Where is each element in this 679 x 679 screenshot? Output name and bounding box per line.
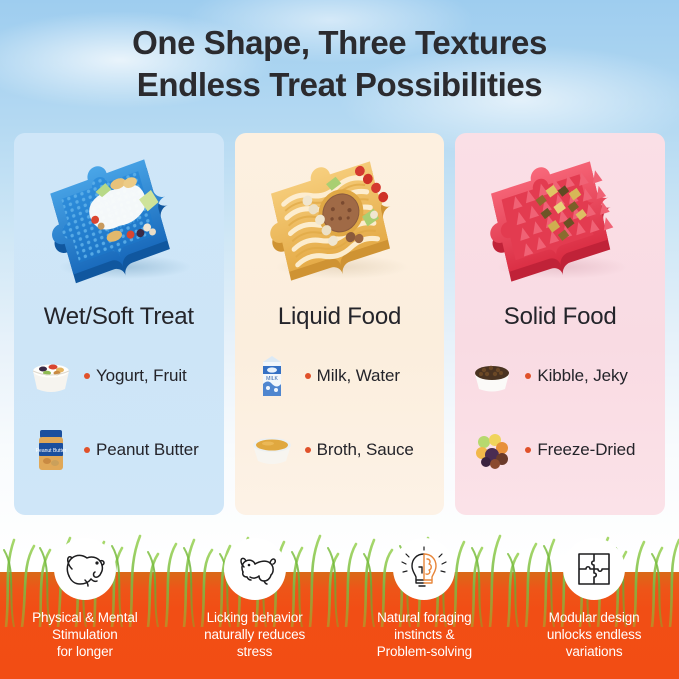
benefit-line: Natural foraging [377,609,472,626]
list-item-label: Milk, Water [317,366,400,386]
benefit-line: Physical & Mental [32,609,138,626]
bullet-dot [84,447,90,453]
panel-title-wet-soft-treat: Wet/Soft Treat [44,303,194,331]
bullet-dot [525,373,531,379]
lightbulb-brain-icon [393,538,455,600]
bullet-dot [305,447,311,453]
benefit-label: Natural foraging instincts & Problem-sol… [373,609,476,660]
list-item-label: Kibble, Jeky [537,366,627,386]
benefit-physical-mental-stimulation[interactable]: Physical & Mental Stimulation for longer [0,530,170,679]
panel-solid-food[interactable]: Solid Food Kibble, [455,133,665,515]
mat-stage-yellow [235,139,445,289]
svg-text:MILK: MILK [266,376,278,382]
headline-line-1: One Shape, Three Textures [132,24,547,61]
dog-head-profile-icon [54,538,116,600]
benefit-line: instincts & [377,626,472,643]
panel-wet-soft-treat[interactable]: PAWSOME STAY PAWSIT [14,133,224,515]
list-item-label: Yogurt, Fruit [96,366,187,386]
headline-line-2: Endless Treat Possibilities [0,64,679,106]
benefit-modular-design[interactable]: Modular design unlocks endless variation… [509,530,679,679]
benefit-label: Licking behavior naturally reduces stres… [200,609,309,660]
milk-carton-icon: MILK [245,353,299,399]
yogurt-bowl-icon [24,353,78,399]
bullet-list-solid-food: Kibble, Jeky Freeze-Dried [455,353,665,473]
list-item: Yogurt, Fruit [24,353,214,399]
puzzle-pieces-icon [563,538,625,600]
svg-text:Peanut Butter: Peanut Butter [36,448,67,454]
list-item: Freeze-Dried [465,427,655,473]
product-panels: PAWSOME STAY PAWSIT [14,133,665,515]
bullet-list-liquid-food: MILK Milk, Water [235,353,445,473]
benefit-line: variations [547,643,642,660]
bullet-dot [84,373,90,379]
benefit-licking-reduces-stress[interactable]: Licking behavior naturally reduces stres… [170,530,340,679]
blue-puzzle-mat-image: PAWSOME STAY PAWSIT [29,143,209,285]
benefit-line: for longer [32,643,138,660]
benefit-label: Physical & Mental Stimulation for longer [28,609,142,660]
peanut-butter-jar-icon: Peanut Butter [24,427,78,473]
dog-licking-icon [224,538,286,600]
panel-liquid-food[interactable]: Liquid Food MILK Milk, Wate [235,133,445,515]
page-title: One Shape, Three Textures Endless Treat … [0,22,679,106]
benefit-natural-foraging[interactable]: Natural foraging instincts & Problem-sol… [340,530,510,679]
bullet-dot [525,447,531,453]
list-item: Kibble, Jeky [465,353,655,399]
red-puzzle-mat-image [470,143,650,285]
benefit-line: naturally reduces [204,626,305,643]
list-item-label: Freeze-Dried [537,440,635,460]
mat-stage-blue: PAWSOME STAY PAWSIT [14,139,224,289]
broth-bowl-icon [245,427,299,473]
mat-stage-red [455,139,665,289]
benefit-line: Problem-solving [377,643,472,660]
kibble-bowl-icon [465,353,519,399]
list-item: MILK Milk, Water [245,353,435,399]
list-item: Peanut Butter Peanut Butter [24,427,214,473]
list-item-label: Broth, Sauce [317,440,414,460]
benefit-line: Stimulation [32,626,138,643]
freeze-dried-mix-icon [465,427,519,473]
bullet-list-wet-soft-treat: Yogurt, Fruit Peanut Butter Peanut Butte… [14,353,224,473]
bullet-dot [305,373,311,379]
benefit-line: stress [204,643,305,660]
yellow-puzzle-mat-image [250,143,430,285]
benefit-line: Modular design [547,609,642,626]
list-item-label: Peanut Butter [96,440,199,460]
benefits-row: Physical & Mental Stimulation for longer… [0,530,679,679]
benefit-line: Licking behavior [204,609,305,626]
benefit-label: Modular design unlocks endless variation… [543,609,646,660]
panel-title-solid-food: Solid Food [504,303,617,331]
benefit-line: unlocks endless [547,626,642,643]
list-item: Broth, Sauce [245,427,435,473]
panel-title-liquid-food: Liquid Food [278,303,401,331]
